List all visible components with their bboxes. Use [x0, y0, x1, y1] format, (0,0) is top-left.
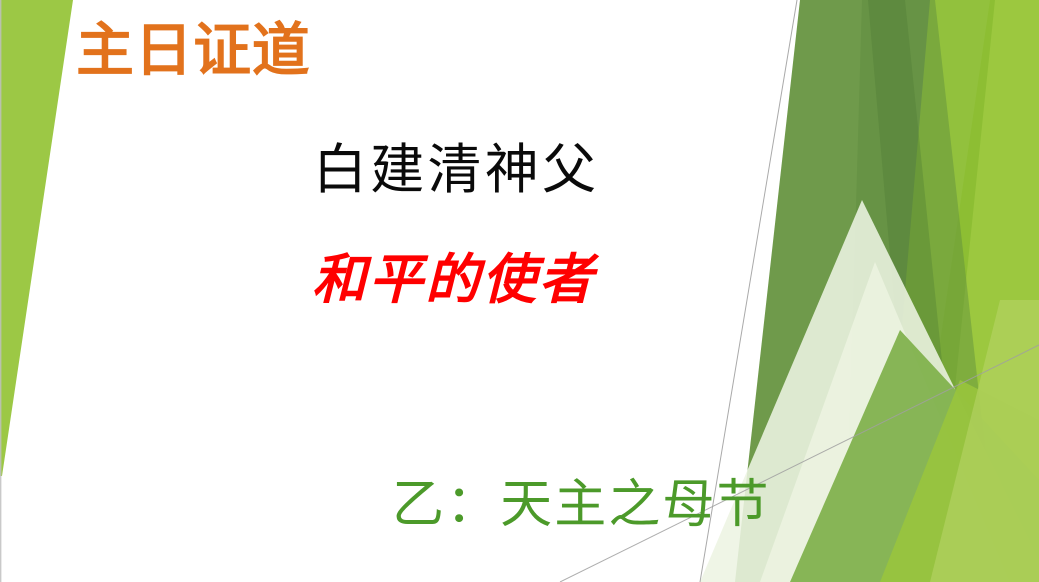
feast-day-label: 乙：天主之母节	[392, 480, 771, 532]
facet-bright-corner	[880, 380, 1039, 582]
slide-title: 主日证道	[76, 22, 310, 80]
facet-bright-mid	[800, 0, 995, 582]
facet-light-bottom-sliver	[930, 300, 1039, 582]
facet-mid-bottom	[790, 330, 1039, 582]
facet-bright-right	[905, 0, 1039, 582]
presentation-slide: 主日证道 白建清神父 和平的使者 乙：天主之母节	[0, 0, 1039, 582]
sermon-topic: 和平的使者	[312, 253, 596, 307]
left-green-wedge	[0, 0, 73, 476]
hairline-diagonal-shallow	[560, 345, 1039, 582]
facet-deep-sliver	[868, 0, 948, 430]
speaker-name: 白建清神父	[313, 143, 599, 197]
left-edge-hairline	[0, 0, 1, 582]
facet-olive-secondary	[845, 0, 1000, 582]
facet-pale-rise	[760, 262, 1010, 582]
